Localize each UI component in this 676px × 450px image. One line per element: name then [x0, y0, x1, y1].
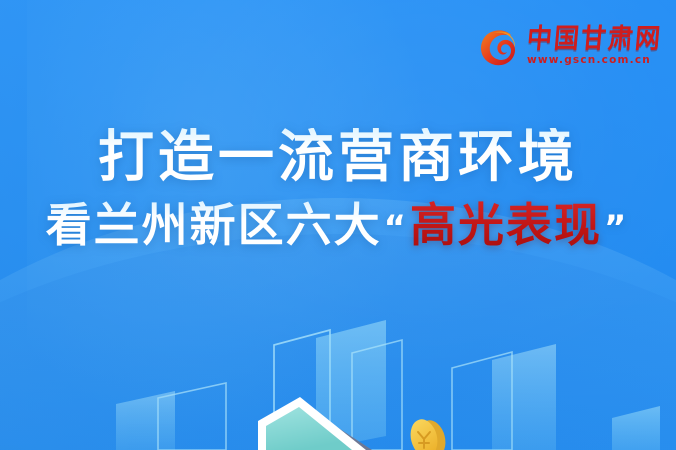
- headline-line-2: 看兰州新区六大 “ 高光表现 ”: [0, 200, 676, 251]
- headline-line-1: 打造一流营商环境: [0, 128, 676, 188]
- quote-open-mark: “: [382, 210, 410, 247]
- promo-banner: 中国甘肃网 www.gscn.com.cn 打造一流营商环境 看兰州新区六大 “…: [0, 0, 676, 450]
- headline-highlight-text: 高光表现: [410, 200, 602, 251]
- logo-site-url: www.gscn.com.cn: [527, 55, 651, 66]
- logo-site-name: 中国甘肃网: [526, 25, 663, 52]
- site-logo[interactable]: 中国甘肃网 www.gscn.com.cn: [477, 24, 662, 68]
- quote-close-mark: ”: [602, 210, 630, 247]
- gscn-swirl-logo-icon: [477, 24, 521, 68]
- logo-text-block: 中国甘肃网 www.gscn.com.cn: [527, 26, 662, 66]
- headline-line-2-prefix: 看兰州新区六大: [46, 200, 382, 251]
- headline-block: 打造一流营商环境 看兰州新区六大 “ 高光表现 ”: [0, 128, 676, 251]
